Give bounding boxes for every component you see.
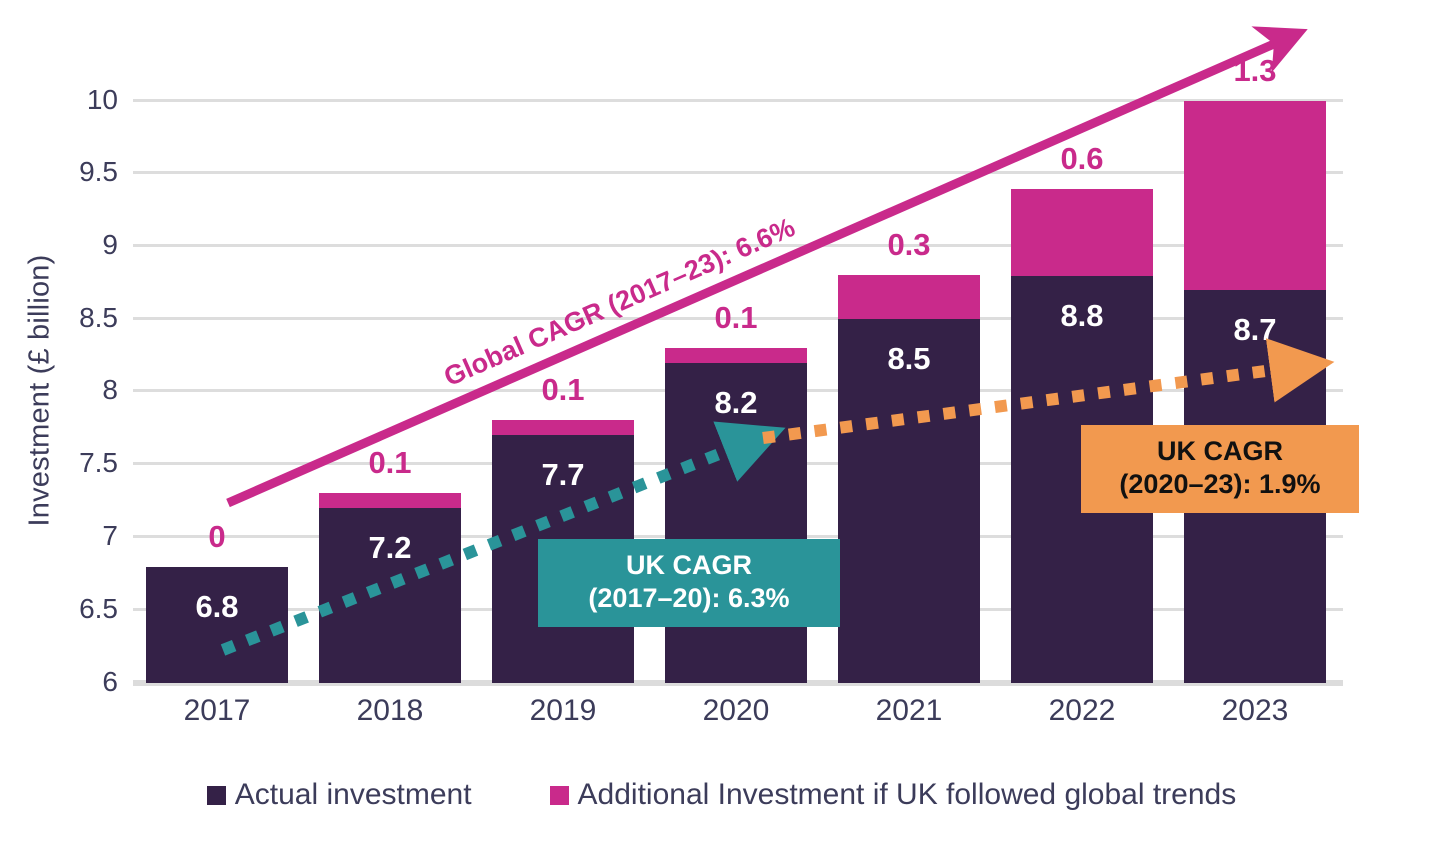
- bar-actual-2017[interactable]: [146, 567, 288, 683]
- y-axis-ticks: 10 9.5 9 8.5 8 7.5 7 6.5 6: [58, 0, 118, 841]
- y-tick-7: 7: [58, 520, 118, 552]
- bar-value-2021: 8.5: [838, 341, 980, 377]
- bar-extra-label-2022: 0.6: [1011, 141, 1153, 177]
- x-tick-2023: 2023: [1184, 694, 1326, 728]
- uk-cagr-late-line1: UK CAGR: [1157, 436, 1283, 466]
- bar-additional-2019[interactable]: [492, 420, 634, 435]
- bar-group-2018[interactable]: 7.2 0.1: [319, 493, 461, 683]
- bar-extra-label-2019: 0.1: [492, 372, 634, 408]
- uk-cagr-early-line2: (2017–20): 6.3%: [556, 582, 822, 615]
- y-tick-8-5: 8.5: [58, 302, 118, 334]
- y-tick-10: 10: [58, 84, 118, 116]
- bar-additional-2023[interactable]: [1184, 101, 1326, 290]
- gridline-10: [133, 99, 1343, 102]
- y-tick-6: 6: [58, 666, 118, 698]
- uk-cagr-early-callout: UK CAGR (2017–20): 6.3%: [538, 539, 840, 627]
- stacked-bar-chart: Investment (£ billion) 10 9.5 9 8.5 8 7.…: [0, 0, 1443, 841]
- y-tick-9: 9: [58, 229, 118, 261]
- uk-cagr-late-line2: (2020–23): 1.9%: [1099, 468, 1341, 501]
- chart-legend: Actual investment Additional Investment …: [0, 778, 1443, 812]
- x-tick-2018: 2018: [319, 694, 461, 728]
- bar-additional-2022[interactable]: [1011, 189, 1153, 276]
- legend-label-additional: Additional Investment if UK followed glo…: [578, 778, 1237, 812]
- bar-additional-2021[interactable]: [838, 275, 980, 319]
- y-tick-8: 8: [58, 374, 118, 406]
- bar-value-2019: 7.7: [492, 457, 634, 493]
- legend-item-additional[interactable]: Additional Investment if UK followed glo…: [550, 778, 1237, 812]
- x-tick-2020: 2020: [665, 694, 807, 728]
- y-tick-7-5: 7.5: [58, 447, 118, 479]
- legend-item-actual[interactable]: Actual investment: [207, 778, 472, 812]
- bar-extra-label-2023: 1.3: [1184, 53, 1326, 89]
- bar-value-2022: 8.8: [1011, 298, 1153, 334]
- y-tick-6-5: 6.5: [58, 593, 118, 625]
- bar-group-2021[interactable]: 8.5 0.3: [838, 275, 980, 683]
- bar-value-2017: 6.8: [146, 589, 288, 625]
- uk-cagr-early-line1: UK CAGR: [626, 550, 752, 580]
- y-tick-9-5: 9.5: [58, 156, 118, 188]
- x-tick-2017: 2017: [146, 694, 288, 728]
- legend-swatch-actual: [207, 786, 226, 805]
- bar-group-2020[interactable]: 8.2 0.1: [665, 348, 807, 683]
- legend-swatch-additional: [550, 786, 569, 805]
- uk-cagr-late-callout: UK CAGR (2020–23): 1.9%: [1081, 425, 1359, 513]
- bar-value-2020: 8.2: [665, 385, 807, 421]
- bar-group-2017[interactable]: 6.8 0: [146, 567, 288, 683]
- bar-value-2023: 8.7: [1184, 312, 1326, 348]
- x-tick-2019: 2019: [492, 694, 634, 728]
- gridline-9-5: [133, 171, 1343, 174]
- bar-extra-label-2021: 0.3: [838, 227, 980, 263]
- bar-group-2023[interactable]: 8.7 1.3: [1184, 101, 1326, 683]
- y-axis-title: Investment (£ billion): [24, 141, 57, 641]
- bar-additional-2020[interactable]: [665, 348, 807, 363]
- bar-extra-label-2020: 0.1: [665, 300, 807, 336]
- bar-additional-2018[interactable]: [319, 493, 461, 508]
- x-tick-2021: 2021: [838, 694, 980, 728]
- x-tick-2022: 2022: [1011, 694, 1153, 728]
- bar-value-2018: 7.2: [319, 530, 461, 566]
- legend-label-actual: Actual investment: [235, 778, 472, 812]
- bar-extra-label-2017: 0: [146, 519, 288, 555]
- bar-extra-label-2018: 0.1: [319, 445, 461, 481]
